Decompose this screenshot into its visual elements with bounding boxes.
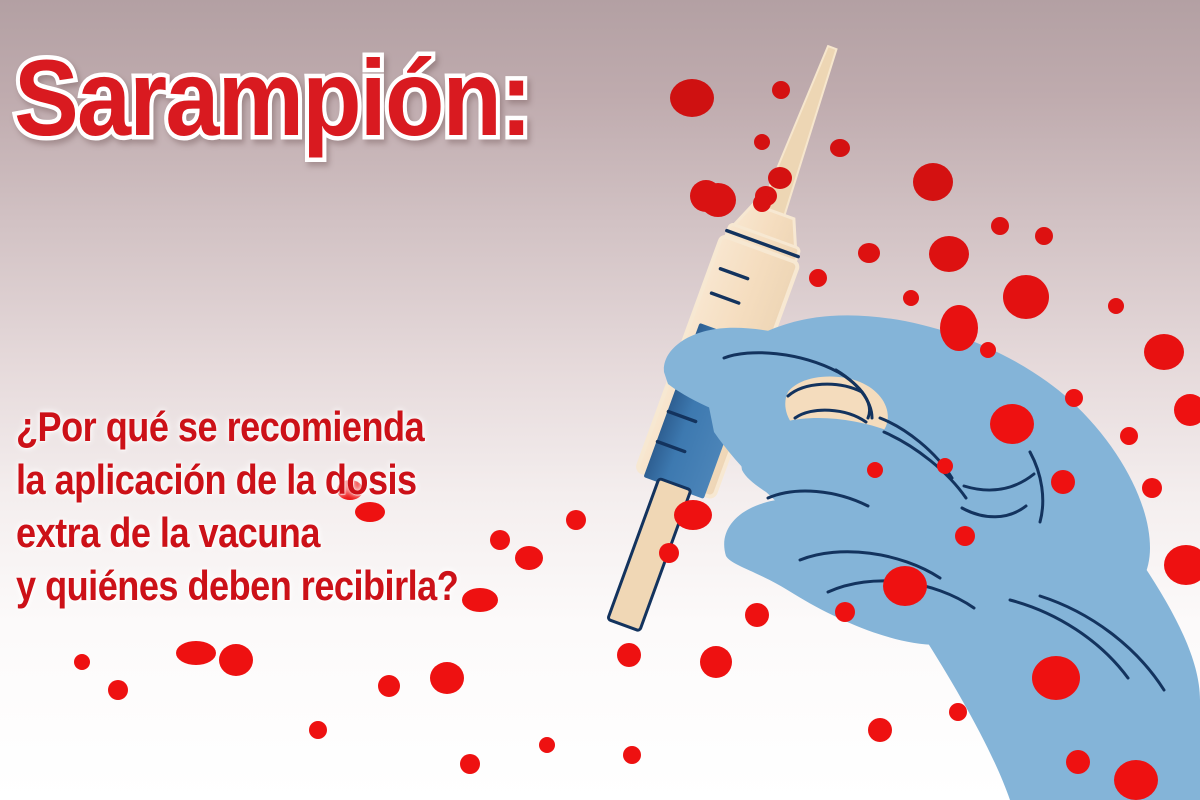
measles-spot <box>176 641 216 665</box>
measles-spot <box>772 81 790 99</box>
measles-spot <box>1035 227 1053 245</box>
measles-spot <box>929 236 969 272</box>
measles-spot <box>858 243 880 263</box>
measles-spot <box>809 269 827 287</box>
measles-spot <box>883 566 927 606</box>
measles-spot <box>623 746 641 764</box>
measles-spot <box>566 510 586 530</box>
measles-spot <box>867 462 883 478</box>
measles-spot <box>659 543 679 563</box>
measles-spot <box>430 662 464 694</box>
measles-spot <box>670 79 714 117</box>
measles-spot <box>991 217 1009 235</box>
measles-spot <box>937 458 953 474</box>
measles-spot <box>690 180 722 212</box>
measles-spot <box>355 502 385 522</box>
measles-spot <box>74 654 90 670</box>
measles-spot <box>337 480 363 500</box>
measles-spot <box>515 546 543 570</box>
measles-spot <box>490 530 510 550</box>
measles-spot <box>378 675 400 697</box>
measles-spot <box>1032 656 1080 700</box>
measles-spot <box>108 680 128 700</box>
measles-spot <box>309 721 327 739</box>
measles-spot <box>460 754 480 774</box>
measles-spot <box>955 526 975 546</box>
measles-spot <box>754 134 770 150</box>
measles-spot <box>219 644 253 676</box>
measles-spot <box>868 718 892 742</box>
measles-spot <box>753 194 771 212</box>
measles-spot <box>1142 478 1162 498</box>
measles-spot <box>940 305 978 351</box>
measles-spot <box>1066 750 1090 774</box>
measles-spot <box>949 703 967 721</box>
measles-spot <box>990 404 1034 444</box>
measles-spot <box>830 139 850 157</box>
measles-spot <box>1051 470 1075 494</box>
measles-spot <box>1065 389 1083 407</box>
measles-spot <box>539 737 555 753</box>
measles-spot <box>835 602 855 622</box>
measles-spot <box>980 342 996 358</box>
measles-spot <box>768 167 792 189</box>
measles-spot <box>903 290 919 306</box>
measles-spot <box>462 588 498 612</box>
measles-spot <box>745 603 769 627</box>
measles-spot <box>1003 275 1049 319</box>
measles-spot <box>1144 334 1184 370</box>
measles-spot <box>1120 427 1138 445</box>
poster-canvas: Sarampión: ¿Por qué se recomienda la apl… <box>0 0 1200 800</box>
measles-spot <box>617 643 641 667</box>
measles-vaccine-illustration <box>0 0 1200 800</box>
measles-spot <box>674 500 712 530</box>
measles-spot <box>1108 298 1124 314</box>
measles-spot <box>913 163 953 201</box>
measles-spot <box>700 646 732 678</box>
measles-spot <box>1114 760 1158 800</box>
